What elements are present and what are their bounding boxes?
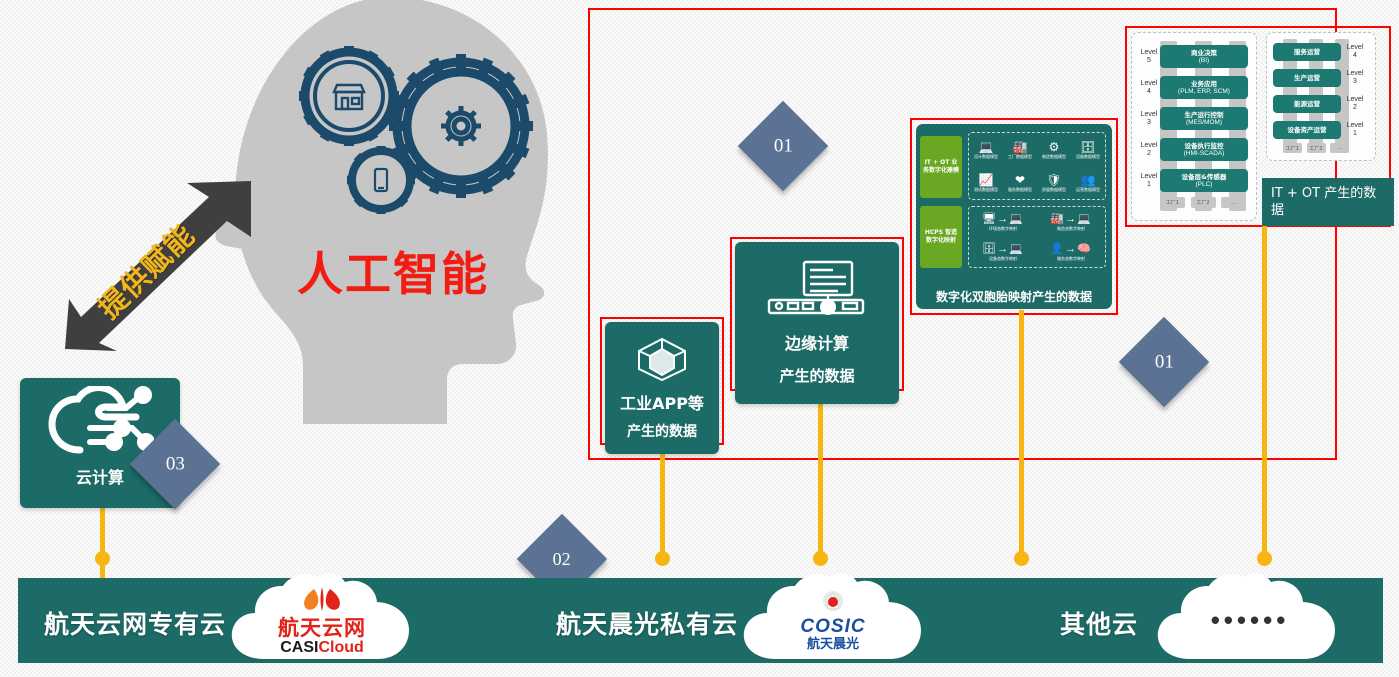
twin-mapping-grid: 🖥→💻 环境态数字映射 🏭→💻 制造态数字映射 🗄→💻 设备态数字映射 👤→🧠 … [968,206,1106,268]
factory-chip[interactable]: 工厂2 [1191,197,1216,208]
casicloud-logo-line1: 航天云网 [256,618,388,639]
heart-service-icon: ❤ [1015,174,1025,186]
cosic-logo-line1: COSIC [766,617,900,637]
people-operations-icon: 👥 [1081,174,1096,186]
level-number: Level 4 [1138,80,1160,96]
manufacturing-map-icon: 🏭→💻 [1050,214,1091,225]
cloud-computing-icon [46,386,154,460]
casicloud-logo-icon [300,587,344,613]
chart-line-icon: 📈 [979,174,994,186]
level-bar: 服务运营 [1273,43,1341,61]
card-edge-computing[interactable]: 边缘计算 产生的数据 [735,242,899,404]
level-bar: 商业决策 (BI) [1160,45,1248,68]
connector-dot-itot [1257,551,1272,566]
level-row[interactable]: Level 5 商业决策 (BI) [1138,45,1248,68]
digital-twin-caption: 数字化双胞胎映射产生的数据 [922,288,1106,305]
it-ot-levels-right-panel: 服务运营 Level 4 生产运营 Level 3 能源运营 Level 2 设… [1266,32,1376,161]
level-number: Level 3 [1138,111,1160,127]
factory-chip[interactable]: … [1330,143,1349,153]
it-ot-data-badge: IT + OT 产生的数据 [1262,178,1394,226]
card-app-title: 工业APP等 [620,390,704,414]
factory-row-right: 工厂1 工厂2 … [1283,143,1349,153]
twin-model-operations: 👥 运营数据模型 [1071,166,1105,199]
casicloud-logo-line2: CASICloud [256,639,388,656]
level-number: Level 4 [1344,44,1366,60]
level-bar: 设备资产运营 [1273,121,1341,139]
twin-mapping-environment: 🖥→💻 环境态数字映射 [969,207,1037,237]
twin-model-factory: 🏭 工厂数据模型 [1003,133,1037,166]
level-number: Level 2 [1138,142,1160,158]
card-app-subtitle: 产生的数据 [627,421,697,441]
cloud-label-casicloud: 航天云网专有云 [44,605,226,641]
connector-dot-cloud [95,551,110,566]
factory-icon: 🏭 [1013,141,1028,153]
gears-group-icon [283,28,565,224]
level-bar: 生产运行控制 (MES/MOM) [1160,107,1248,130]
service-map-icon: 👤→🧠 [1050,244,1091,255]
twin-model-service: ❤ 服务数据模型 [1003,166,1037,199]
twin-model-quality: 🛡 质量数据模型 [1037,166,1071,199]
twin-mapping-service: 👤→🧠 服务态数字映射 [1037,237,1105,267]
twin-tab-it-ot-modeling: IT + OT 业务数字化建模 [920,136,962,198]
cosic-logo: COSIC 航天晨光 [766,590,900,652]
cosic-logo-icon [813,590,853,612]
twin-tab-hcps-mapping: HCPS 智造数字化映射 [920,206,962,268]
level-bar: 生产运营 [1273,69,1341,87]
factory-chip[interactable]: … [1221,197,1246,208]
environment-map-icon: 🖥→💻 [982,214,1024,225]
card-edge-title: 边缘计算 [785,330,849,354]
it-ot-levels-left-panel: Level 5 商业决策 (BI) Level 4 业务应用 (PLM, ERP… [1131,32,1257,221]
level-number: Level 1 [1344,122,1366,138]
twin-model-equipment: 🗄 设备数据模型 [1071,133,1105,166]
level-bar: 设备执行监控 (HMI-SCADA) [1160,138,1248,161]
equipment-map-icon: 🗄→💻 [982,244,1024,255]
manufacturing-icon: ⚙ [1049,141,1060,153]
design-screen-icon: 💻 [979,141,994,153]
level-row[interactable]: 生产运营 Level 3 [1273,69,1366,87]
factory-chip[interactable]: 工厂1 [1160,197,1185,208]
level-number: Level 1 [1138,173,1160,189]
connector-dot-twin [1014,551,1029,566]
level-row[interactable]: Level 2 设备执行监控 (HMI-SCADA) [1138,138,1248,161]
double-headed-arrow-icon [55,175,265,355]
level-bar: 能源运营 [1273,95,1341,113]
level-number: Level 3 [1344,70,1366,86]
factory-chip[interactable]: 工厂2 [1307,143,1326,153]
level-row[interactable]: 设备资产运营 Level 1 [1273,121,1366,139]
server-rack-icon: 🗄 [1080,141,1095,153]
ai-title: 人工智能 [278,238,508,304]
twin-model-test: 📈 测试数据模型 [969,166,1003,199]
level-bar: 设备层&传感器 (PLC) [1160,169,1248,192]
factory-row-left: 工厂1 工厂2 … [1160,197,1246,208]
twin-model-grid: 💻 设计数据模型 🏭 工厂数据模型 ⚙ 制造数据模型 🗄 设备数据模型 📈 测试… [968,132,1106,200]
level-row[interactable]: Level 3 生产运行控制 (MES/MOM) [1138,107,1248,130]
quality-shield-icon: 🛡 [1046,174,1061,186]
level-row[interactable]: Level 4 业务应用 (PLM, ERP, SCM) [1138,76,1248,99]
connector-edge [818,384,823,564]
card-industrial-app[interactable]: 工业APP等 产生的数据 [605,322,719,454]
level-row[interactable]: 服务运营 Level 4 [1273,43,1366,61]
connector-twin [1019,310,1024,564]
level-row[interactable]: Level 1 设备层&传感器 (PLC) [1138,169,1248,192]
level-bar: 业务应用 (PLM, ERP, SCM) [1160,76,1248,99]
level-row[interactable]: 能源运营 Level 2 [1273,95,1366,113]
factory-chip[interactable]: 工厂1 [1283,143,1302,153]
cosic-logo-line2: 航天晨光 [766,637,900,652]
edge-server-monitor-icon [763,260,871,320]
card-cloud-title: 云计算 [76,464,124,488]
twin-model-design: 💻 设计数据模型 [969,133,1003,166]
digital-twin-panel: IT + OT 业务数字化建模 HCPS 智造数字化映射 💻 设计数据模型 🏭 … [916,124,1112,309]
level-number: Level 5 [1138,49,1160,65]
cloud-label-other: 其他云 [1060,605,1138,641]
connector-dot-edge [813,551,828,566]
card-edge-subtitle: 产生的数据 [779,365,854,386]
twin-model-manufacturing: ⚙ 制造数据模型 [1037,133,1071,166]
connector-app [660,438,665,563]
connector-dot-app [655,551,670,566]
other-cloud-ellipsis: •••••• [1205,605,1295,636]
twin-mapping-equipment: 🗄→💻 设备态数字映射 [969,237,1037,267]
cube-3d-icon [636,336,688,382]
cloud-label-cosic: 航天晨光私有云 [556,605,738,641]
twin-mapping-manufacturing: 🏭→💻 制造态数字映射 [1037,207,1105,237]
casicloud-logo: 航天云网 CASICloud [256,587,388,656]
connector-itot [1262,224,1267,564]
level-number: Level 2 [1344,96,1366,112]
